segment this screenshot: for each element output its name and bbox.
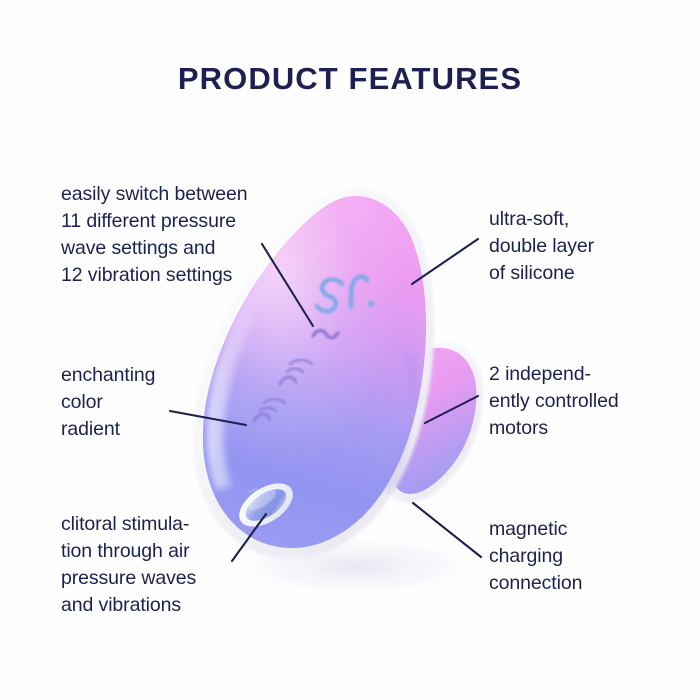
callout-label-silicone: ultra-soft, double layer of silicone — [489, 206, 674, 287]
leader-line-motors — [425, 396, 478, 423]
callout-label-settings: easily switch between 11 different press… — [61, 181, 301, 289]
leader-line-magnetic — [413, 503, 481, 557]
power-button-icon[interactable] — [313, 330, 338, 337]
leader-line-silicone — [412, 239, 478, 284]
callout-label-magnetic-charging: magnetic charging connection — [489, 516, 684, 597]
callout-label-gradient: enchanting color radient — [61, 362, 261, 443]
brand-logo-icon — [317, 277, 374, 312]
pressure-wave-icon[interactable] — [280, 360, 312, 384]
callout-label-motors: 2 independ- ently controlled motors — [489, 361, 679, 442]
page-title: PRODUCT FEATURES — [0, 61, 700, 97]
product-features-infographic: PRODUCT FEATURES — [0, 0, 700, 700]
callout-label-clitoral-stimulation: clitoral stimula- tion through air press… — [61, 511, 276, 619]
device-secondary-lobe — [385, 341, 483, 504]
